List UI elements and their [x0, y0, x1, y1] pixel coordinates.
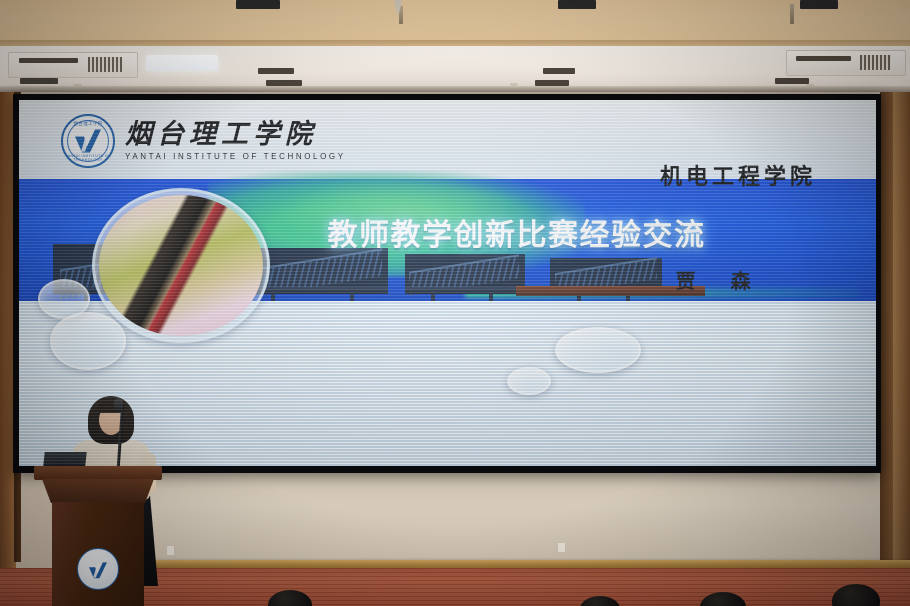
lectern-body	[52, 502, 144, 606]
air-vent-icon	[258, 68, 294, 74]
wall-outlet-icon	[166, 545, 175, 556]
ceiling-vent-icon	[236, 0, 280, 9]
wall-outlet-icon	[557, 542, 566, 553]
ceiling-hanger	[790, 4, 794, 24]
emblem-check-mark-icon	[73, 127, 103, 153]
ceiling-vent-icon	[558, 0, 596, 9]
bubble-decoration	[50, 312, 126, 370]
lecture-hall-photo: 烟台理工学院 YANTAI INSTITUTE OF TECHNOLOGY 烟台…	[0, 0, 910, 606]
air-vent-icon	[20, 78, 58, 84]
right-door-jamb	[880, 92, 893, 562]
microphone-icon	[114, 398, 123, 412]
port-crane-icon	[405, 254, 525, 294]
emblem-arc-top-text: 烟台理工学院	[63, 121, 113, 127]
university-logo: 烟台理工学院 YANTAI INSTITUTE OF TECHNOLOGY 烟台…	[61, 114, 346, 168]
department-name: 机电工程学院	[660, 159, 816, 191]
logo-text-block: 烟台理工学院 YANTAI INSTITUTE OF TECHNOLOGY	[125, 121, 346, 161]
ac-cassette-icon	[8, 52, 138, 78]
lectern-emblem-icon	[77, 548, 119, 590]
presenter-name: 贾 森	[676, 265, 765, 294]
bubble-image-frame	[92, 188, 270, 343]
air-vent-icon	[543, 68, 575, 74]
lectern-emblem-check-icon	[87, 561, 109, 579]
laptop-icon[interactable]	[43, 452, 86, 466]
institution-name-cn: 烟台理工学院	[125, 121, 346, 148]
lectern	[36, 466, 160, 606]
lower-wall	[150, 472, 910, 570]
led-display-screen[interactable]: 烟台理工学院 YANTAI INSTITUTE OF TECHNOLOGY 烟台…	[13, 94, 881, 473]
institution-name-en: YANTAI INSTITUTE OF TECHNOLOGY	[125, 152, 346, 161]
lectern-top	[34, 466, 162, 480]
right-wall-panel	[892, 92, 910, 570]
ac-cassette-icon	[786, 50, 906, 76]
ceiling-vent-icon	[800, 0, 838, 9]
pencil-artwork-image	[99, 195, 263, 336]
air-vent-icon	[775, 78, 809, 84]
bubble-decoration	[555, 327, 641, 373]
lectern-neck	[42, 479, 154, 503]
slide-title: 教师教学创新比赛经验交流	[328, 210, 706, 254]
emblem-arc-bottom-text: YANTAI INSTITUTE OF TECHNOLOGY	[63, 154, 113, 162]
slide-surface: 烟台理工学院 YANTAI INSTITUTE OF TECHNOLOGY 烟台…	[19, 100, 876, 466]
university-emblem-icon: 烟台理工学院 YANTAI INSTITUTE OF TECHNOLOGY	[61, 114, 115, 168]
ceiling-light-panel-icon	[146, 55, 218, 71]
